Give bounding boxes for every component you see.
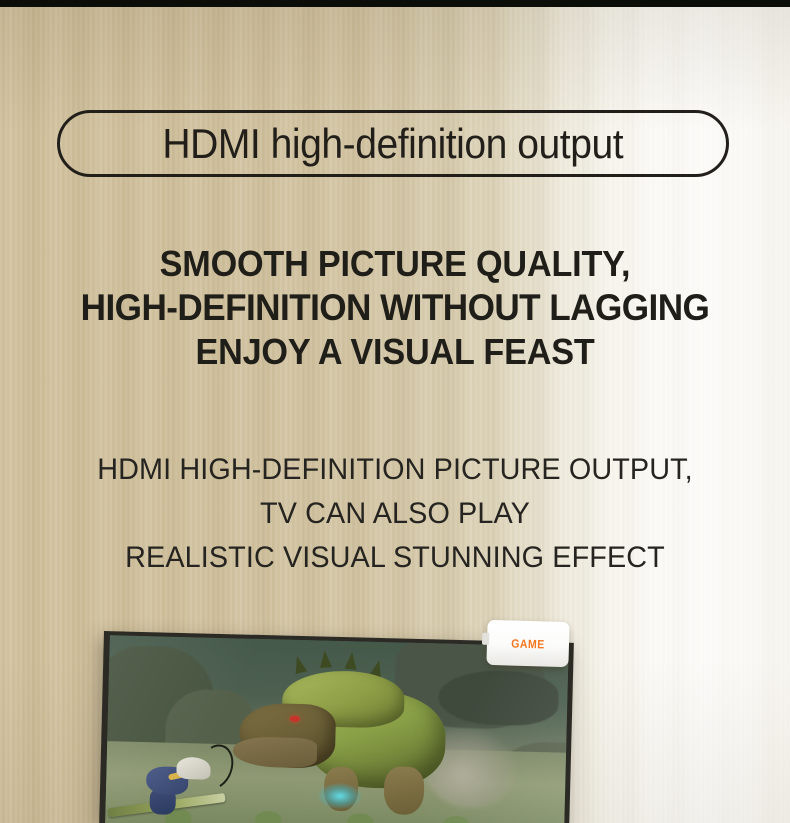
monster-eye — [290, 716, 300, 722]
hdmi-badge: HDMI high-definition output — [57, 110, 729, 177]
device-mount-clip — [482, 633, 489, 645]
monster-spike — [291, 655, 307, 674]
game-console-device: GAME — [486, 620, 569, 667]
headline-line-2: HIGH-DEFINITION WITHOUT LAGGING — [20, 286, 771, 330]
subcopy-line-1: HDMI HIGH-DEFINITION PICTURE OUTPUT, — [16, 448, 774, 492]
headline-line-3: ENJOY A VISUAL FEAST — [20, 330, 771, 374]
subcopy-line-3: REALISTIC VISUAL STUNNING EFFECT — [16, 536, 774, 580]
top-edge-bar — [0, 0, 790, 7]
game-monster — [232, 652, 456, 816]
headline-block: SMOOTH PICTURE QUALITY, HIGH-DEFINITION … — [0, 242, 790, 374]
subcopy-block: HDMI HIGH-DEFINITION PICTURE OUTPUT, TV … — [0, 448, 790, 580]
game-hunter-character — [123, 746, 221, 822]
scene-grass — [255, 811, 281, 823]
hdmi-badge-label: HDMI high-definition output — [163, 120, 624, 168]
product-poster: HDMI high-definition output SMOOTH PICTU… — [0, 0, 790, 823]
monster-energy-glow — [318, 782, 363, 809]
monster-jaw — [233, 736, 318, 768]
monster-spike — [345, 652, 359, 670]
monster-leg — [383, 766, 424, 815]
headline-line-1: SMOOTH PICTURE QUALITY, — [20, 242, 771, 286]
device-brand-label: GAME — [511, 636, 545, 651]
subcopy-line-2: TV CAN ALSO PLAY — [16, 492, 774, 536]
monster-spike — [319, 650, 332, 668]
